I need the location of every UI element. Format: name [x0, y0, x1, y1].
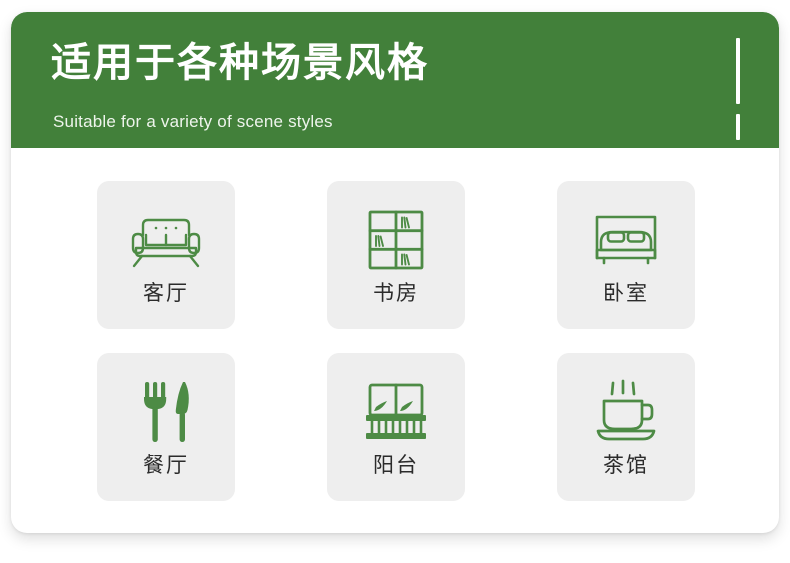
scene-tile-label: 书房 — [373, 283, 419, 304]
accent-bar-short — [736, 114, 740, 140]
bookshelf-icon — [359, 207, 433, 273]
teacup-icon — [589, 379, 663, 445]
scene-tile-balcony[interactable]: 阳台 — [327, 353, 465, 501]
scene-tile-label: 餐厅 — [143, 455, 189, 476]
page-header: 适用于各种场景风格 Suitable for a variety of scen… — [11, 12, 779, 148]
content-panel: 适用于各种场景风格 Suitable for a variety of scen… — [11, 12, 779, 533]
fork-knife-icon — [129, 379, 203, 445]
scene-tile-dining-room[interactable]: 餐厅 — [97, 353, 235, 501]
bed-icon — [589, 207, 663, 273]
scene-tile-label: 客厅 — [143, 283, 189, 304]
scene-styles-page: 适用于各种场景风格 Suitable for a variety of scen… — [0, 0, 790, 563]
accent-bar-long — [736, 38, 740, 104]
vertical-accent-bars-decoration — [736, 38, 742, 144]
page-subtitle: Suitable for a variety of scene styles — [53, 112, 333, 132]
scene-tile-label: 茶馆 — [603, 455, 649, 476]
scene-grid: 客厅 — [97, 181, 705, 501]
balcony-icon — [359, 379, 433, 445]
page-title: 适用于各种场景风格 — [51, 40, 429, 86]
scene-tile-label: 阳台 — [373, 455, 419, 476]
scene-tile-label: 卧室 — [603, 283, 649, 304]
scene-tile-study[interactable]: 书房 — [327, 181, 465, 329]
sofa-icon — [129, 207, 203, 273]
scene-tile-teahouse[interactable]: 茶馆 — [557, 353, 695, 501]
scene-tile-living-room[interactable]: 客厅 — [97, 181, 235, 329]
scene-tile-bedroom[interactable]: 卧室 — [557, 181, 695, 329]
